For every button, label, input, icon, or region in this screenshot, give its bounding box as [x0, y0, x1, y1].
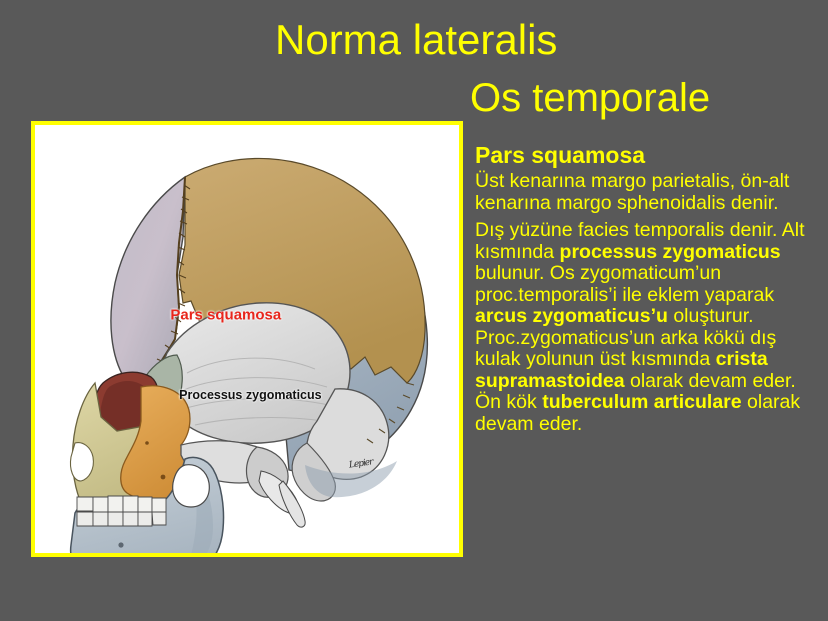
skull-figure: Pars squamosa Processus zygomaticus Lepi…: [31, 121, 463, 557]
paragraph: Üst kenarına margo parietalis, ön-alt ke…: [475, 171, 827, 214]
term-emphasis: processus zygomaticus: [560, 241, 781, 263]
term-emphasis: arcus zygomaticus’u: [475, 305, 668, 327]
text-column: Pars squamosa Üst kenarına margo parieta…: [475, 142, 827, 441]
term-emphasis: tuberculum articulare: [542, 391, 741, 413]
page-title: Norma lateralis: [275, 17, 557, 63]
text-run: Üst kenarına margo parietalis, ön-alt ke…: [475, 170, 789, 214]
section-heading: Pars squamosa: [475, 142, 827, 169]
paragraph-list: Üst kenarına margo parietalis, ön-alt ke…: [475, 171, 827, 435]
skull-image-panel: Pars squamosa Processus zygomaticus Lepi…: [35, 125, 459, 553]
slide-root: Norma lateralis Os temporale: [0, 0, 828, 621]
page-subtitle: Os temporale: [470, 76, 710, 120]
skull-diagram: [35, 125, 459, 553]
paragraph: Dış yüzüne facies temporalis denir. Alt …: [475, 220, 827, 435]
text-run: bulunur. Os zygomaticum’un proc.temporal…: [475, 262, 774, 306]
